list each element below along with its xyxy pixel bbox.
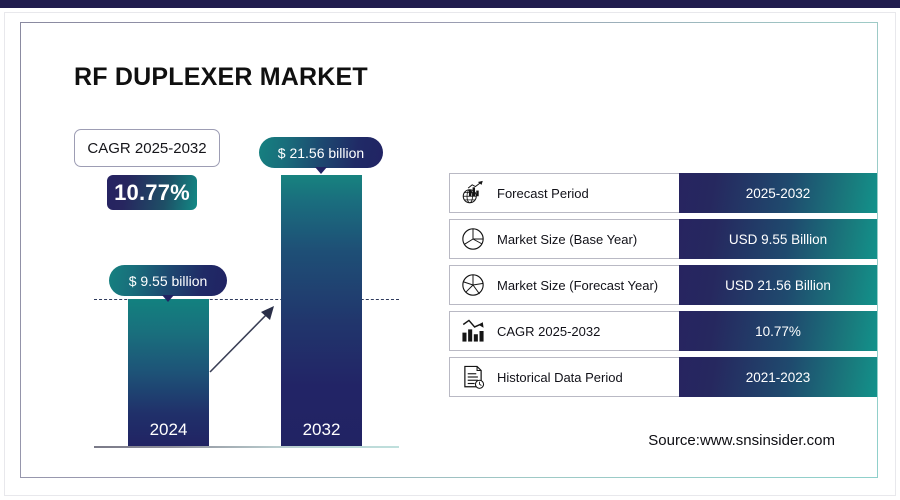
bar-2032: 2032 (281, 175, 362, 446)
table-row-label-cell: Historical Data Period (450, 358, 679, 396)
table-row: Market Size (Base Year) USD 9.55 Billion (449, 219, 877, 259)
bar-chart-trend-icon (458, 316, 488, 346)
table-row-value: USD 9.55 Billion (729, 232, 827, 247)
top-accent-strip (0, 0, 900, 8)
table-row-value-cell: USD 21.56 Billion (679, 265, 877, 305)
page-title: RF DUPLEXER MARKET (74, 63, 368, 92)
table-row-label: Market Size (Forecast Year) (497, 278, 658, 293)
table-row-label: Forecast Period (497, 186, 589, 201)
pie-chart-segments-icon (458, 270, 488, 300)
table-row-value-cell: 2021-2023 (679, 357, 877, 397)
table-row: Historical Data Period 2021-2023 (449, 357, 877, 397)
table-row-value: USD 21.56 Billion (725, 278, 831, 293)
table-row-label: CAGR 2025-2032 (497, 324, 600, 339)
table-row-value-cell: 10.77% (679, 311, 877, 351)
infographic-page: RF DUPLEXER MARKET CAGR 2025-2032 10.77%… (0, 0, 900, 500)
table-row: Forecast Period 2025-2032 (449, 173, 877, 213)
table-row-label-cell: Forecast Period (450, 174, 679, 212)
table-row: CAGR 2025-2032 10.77% (449, 311, 877, 351)
globe-bar-chart-icon (458, 178, 488, 208)
table-row: Market Size (Forecast Year) USD 21.56 Bi… (449, 265, 877, 305)
bar-2024: 2024 (128, 299, 209, 446)
document-clock-icon (458, 362, 488, 392)
table-row-value-cell: 2025-2032 (679, 173, 877, 213)
table-row-value: 10.77% (755, 324, 801, 339)
table-row-label-cell: Market Size (Forecast Year) (450, 266, 679, 304)
infographic-card: RF DUPLEXER MARKET CAGR 2025-2032 10.77%… (20, 22, 878, 478)
value-pill-2032: $ 21.56 billion (259, 137, 383, 168)
table-row-value-cell: USD 9.55 Billion (679, 219, 877, 259)
value-pill-2024-text: $ 9.55 billion (129, 273, 208, 289)
bar-label-2032: 2032 (281, 420, 362, 440)
table-row-label: Historical Data Period (497, 370, 623, 385)
table-row-label-cell: CAGR 2025-2032 (450, 312, 679, 350)
chart-baseline-axis (94, 446, 399, 448)
table-row-label-cell: Market Size (Base Year) (450, 220, 679, 258)
growth-arrow-icon (206, 301, 281, 376)
info-table: Forecast Period 2025-2032 (449, 173, 877, 403)
value-pill-2024: $ 9.55 billion (109, 265, 227, 296)
pie-chart-icon (458, 224, 488, 254)
table-row-value: 2021-2023 (746, 370, 811, 385)
table-row-label: Market Size (Base Year) (497, 232, 637, 247)
source-attribution: Source:www.snsinsider.com (648, 432, 835, 449)
bar-label-2024: 2024 (128, 420, 209, 440)
value-pill-2032-text: $ 21.56 billion (278, 145, 364, 161)
table-row-value: 2025-2032 (746, 186, 811, 201)
